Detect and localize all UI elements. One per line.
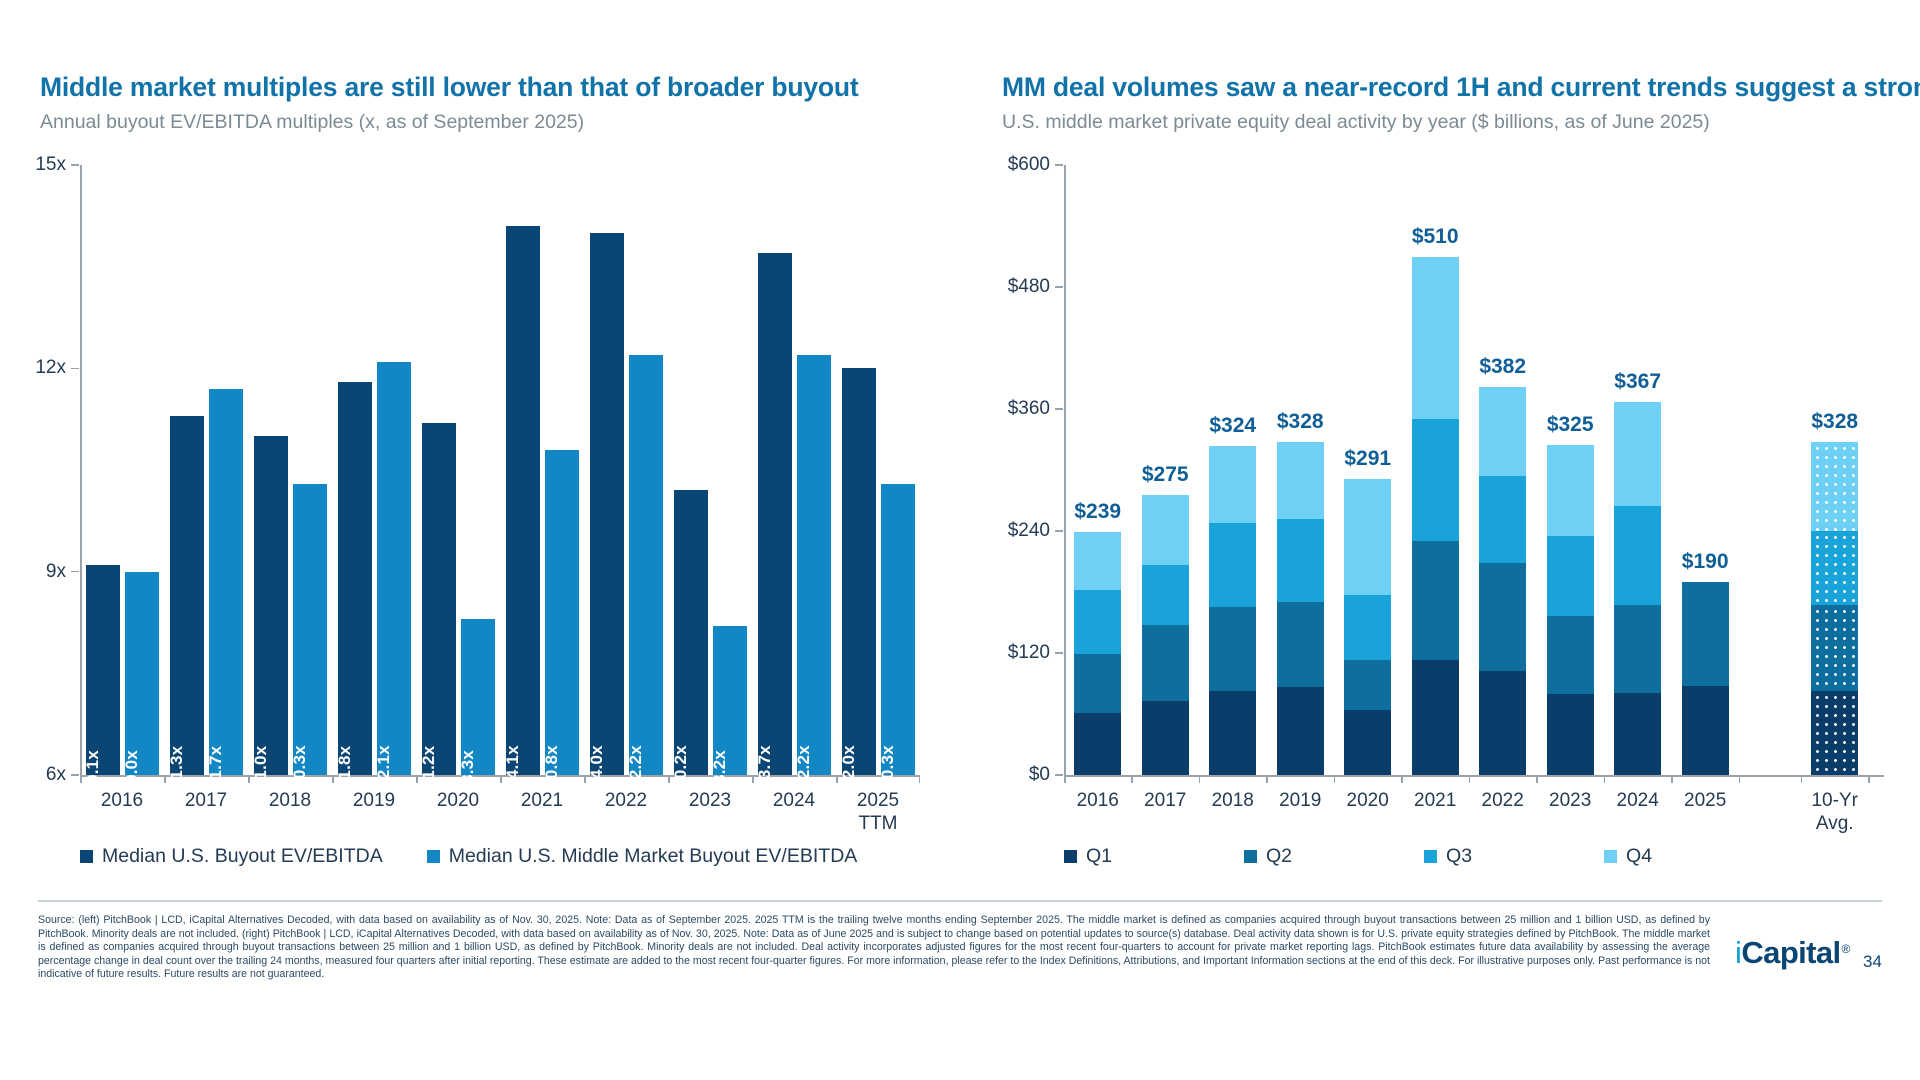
- right-chart-ytick-mark: [1055, 408, 1063, 410]
- right-chart-bar-segment: [1479, 671, 1526, 775]
- right-chart-xtick-mark: [1401, 775, 1403, 783]
- right-chart-xtick-mark: [1334, 775, 1336, 783]
- right-chart-stacked-bar: [1344, 479, 1391, 775]
- right-chart-bar-segment: [1682, 686, 1729, 775]
- left-chart-ytick-label: 9x: [14, 561, 66, 583]
- right-chart-xtick-mark: [1266, 775, 1268, 783]
- left-chart-bar: 10.3x: [881, 484, 915, 775]
- right-chart-average-bar: [1811, 442, 1858, 775]
- right-chart-xtick-mark: [1739, 775, 1741, 783]
- right-chart-bar-segment: [1209, 607, 1256, 690]
- left-chart-bar: 9.0x: [125, 572, 159, 775]
- right-chart-total-label: $324: [1209, 414, 1256, 438]
- right-chart-stacked-bar: [1209, 446, 1256, 775]
- right-chart-ytick-label: $480: [980, 276, 1050, 298]
- left-chart-bar-label: 12.2x: [626, 745, 646, 789]
- right-chart-bar-segment: [1412, 660, 1459, 775]
- left-chart-bar: 14.0x: [590, 233, 624, 775]
- left-chart-bar: 11.3x: [170, 416, 204, 775]
- left-chart-bar-label: 9.1x: [83, 750, 103, 784]
- right-chart-y-axis: [1064, 165, 1066, 775]
- left-chart-y-axis: [80, 165, 82, 775]
- right-legend-item-q3[interactable]: Q3: [1424, 845, 1472, 868]
- right-chart-bar-segment: [1811, 531, 1858, 605]
- right-chart-total-label: $325: [1547, 413, 1594, 437]
- right-chart-bar-segment: [1412, 419, 1459, 541]
- right-chart-bar-segment: [1209, 446, 1256, 523]
- left-chart-bar: 8.2x: [713, 626, 747, 775]
- right-chart-bar-segment: [1074, 713, 1121, 775]
- right-chart-bar-segment: [1209, 691, 1256, 775]
- left-chart-xtick-label: 2019: [332, 789, 416, 812]
- legend-swatch-icon: [427, 850, 440, 863]
- right-chart-bar-segment: [1479, 563, 1526, 672]
- right-chart-total-label: $190: [1682, 550, 1729, 574]
- right-chart-bar-segment: [1412, 257, 1459, 420]
- right-chart-xtick-label: 2025: [1671, 789, 1738, 812]
- right-chart-xtick-mark: [1671, 775, 1673, 783]
- left-chart-bar: 9.1x: [86, 565, 120, 775]
- left-legend-item-2[interactable]: Median U.S. Middle Market Buyout EV/EBIT…: [427, 845, 858, 868]
- right-chart-xtick-mark: [1469, 775, 1471, 783]
- left-chart-xtick-mark: [500, 775, 502, 783]
- left-chart-bar-label: 10.8x: [542, 745, 562, 789]
- left-chart-bar-label: 10.3x: [290, 745, 310, 789]
- right-chart-bar-segment: [1344, 660, 1391, 710]
- right-chart-bar-segment: [1547, 616, 1594, 693]
- right-chart-bar-segment: [1277, 519, 1324, 602]
- right-chart-xtick-mark: [1199, 775, 1201, 783]
- right-chart-total-label: $291: [1344, 447, 1391, 471]
- left-chart-xtick-mark: [248, 775, 250, 783]
- left-chart-xtick-label: 2021: [500, 789, 584, 812]
- right-chart-legend: Q1Q2Q3Q4: [1064, 845, 1652, 868]
- right-chart-bar-segment: [1614, 605, 1661, 692]
- left-panel-title: Middle market multiples are still lower …: [40, 72, 859, 103]
- right-chart-xtick-mark: [1868, 775, 1870, 783]
- left-chart-bar: 11.0x: [254, 436, 288, 775]
- left-chart-bar-label: 10.2x: [671, 745, 691, 789]
- left-chart-bar: 11.7x: [209, 389, 243, 775]
- left-chart-xtick-mark: [836, 775, 838, 783]
- right-chart-panel: MM deal volumes saw a near-record 1H and…: [968, 0, 1920, 910]
- right-chart-bar-segment: [1277, 442, 1324, 519]
- left-chart-ytick-mark: [71, 164, 79, 166]
- left-chart-xtick-mark: [752, 775, 754, 783]
- right-chart-bar-segment: [1479, 476, 1526, 562]
- right-chart-bar-segment: [1142, 701, 1189, 775]
- left-chart-bar: 14.1x: [506, 226, 540, 775]
- legend-swatch-icon: [80, 850, 93, 863]
- right-chart-stacked-bar: [1412, 257, 1459, 776]
- right-chart-xtick-mark: [1801, 775, 1803, 783]
- left-chart-ytick-label: 12x: [14, 357, 66, 379]
- right-chart-stacked-bar: [1682, 582, 1729, 775]
- left-chart-bar-label: 13.7x: [755, 745, 775, 789]
- left-chart-xtick-label: 2016: [80, 789, 164, 812]
- left-chart-bar-label: 11.2x: [419, 746, 439, 789]
- right-chart-ytick-label: $120: [980, 642, 1050, 664]
- right-chart-stacked-bar: [1614, 402, 1661, 775]
- right-chart-stacked-bar: [1074, 532, 1121, 775]
- right-chart-bar-segment: [1344, 710, 1391, 775]
- left-legend-item-1[interactable]: Median U.S. Buyout EV/EBITDA: [80, 845, 383, 868]
- right-chart-x-axis: [1064, 775, 1884, 777]
- left-chart-bar-label: 8.3x: [458, 750, 478, 784]
- left-chart-xtick-label: 2018: [248, 789, 332, 812]
- right-chart-xtick-label: 2024: [1604, 789, 1671, 812]
- left-chart-xtick-label: 2022: [584, 789, 668, 812]
- legend-label: Median U.S. Buyout EV/EBITDA: [102, 845, 383, 868]
- right-legend-item-q2[interactable]: Q2: [1244, 845, 1292, 868]
- left-chart-xtick-mark: [584, 775, 586, 783]
- left-chart-bar: 12.2x: [629, 355, 663, 775]
- right-chart-bar-segment: [1412, 541, 1459, 660]
- right-chart-plot: $0$120$240$360$480$600$2392016$2752017$3…: [1064, 165, 1884, 775]
- left-chart-xtick-label: 2024: [752, 789, 836, 812]
- left-chart-panel: Middle market multiples are still lower …: [0, 0, 968, 910]
- legend-swatch-icon: [1604, 850, 1617, 863]
- legend-swatch-icon: [1064, 850, 1077, 863]
- right-chart-bar-segment: [1547, 445, 1594, 537]
- right-legend-item-q4[interactable]: Q4: [1604, 845, 1652, 868]
- right-chart-ytick-label: $0: [980, 764, 1050, 786]
- right-chart-ytick-mark: [1055, 530, 1063, 532]
- left-chart-xtick-mark: [416, 775, 418, 783]
- right-chart-stacked-bar: [1547, 445, 1594, 775]
- right-chart-ytick-label: $600: [980, 154, 1050, 176]
- right-chart-xtick-label: 2018: [1199, 789, 1266, 812]
- left-chart-bar: 10.8x: [545, 450, 579, 775]
- left-chart-bar-label: 14.0x: [587, 745, 607, 789]
- left-chart-bar-label: 12.0x: [839, 745, 859, 789]
- left-chart-bar-label: 11.7x: [206, 746, 226, 789]
- left-chart-ytick-label: 6x: [14, 764, 66, 786]
- legend-label: Q4: [1626, 845, 1652, 868]
- left-chart-bar: 12.1x: [377, 362, 411, 775]
- left-chart-bar: 12.0x: [842, 368, 876, 775]
- right-chart-xtick-label: 2022: [1469, 789, 1536, 812]
- left-chart-xtick-label: 2025TTM: [836, 789, 920, 835]
- left-chart-plot: 6x9x12x15x9.1x9.0x201611.3x11.7x201711.0…: [80, 165, 920, 775]
- right-chart-ytick-label: $360: [980, 398, 1050, 420]
- right-chart-bar-segment: [1479, 387, 1526, 476]
- left-panel-subtitle: Annual buyout EV/EBITDA multiples (x, as…: [40, 111, 584, 134]
- left-chart-bar-label: 14.1x: [503, 745, 523, 789]
- right-panel-title: MM deal volumes saw a near-record 1H and…: [1002, 72, 1920, 103]
- left-chart-ytick-mark: [71, 774, 79, 776]
- right-chart-bar-segment: [1682, 582, 1729, 686]
- right-chart-bar-segment: [1547, 536, 1594, 616]
- left-chart-bar-label: 10.3x: [878, 745, 898, 789]
- left-chart-ytick-mark: [71, 368, 79, 370]
- right-chart-bar-segment: [1344, 595, 1391, 660]
- right-chart-ytick-label: $240: [980, 520, 1050, 542]
- right-chart-xtick-label: 2017: [1131, 789, 1198, 812]
- right-chart-bar-segment: [1614, 402, 1661, 506]
- slide: Middle market multiples are still lower …: [0, 0, 1920, 1080]
- right-chart-xtick-mark: [1536, 775, 1538, 783]
- right-chart-bar-segment: [1142, 495, 1189, 564]
- right-chart-ytick-mark: [1055, 774, 1063, 776]
- left-chart-bar-label: 11.8x: [335, 746, 355, 789]
- right-chart-xtick-label: 2021: [1401, 789, 1468, 812]
- right-chart-xtick-label: 2016: [1064, 789, 1131, 812]
- footer-divider: [38, 900, 1882, 902]
- right-chart-bar-segment: [1142, 625, 1189, 701]
- right-chart-ytick-mark: [1055, 164, 1063, 166]
- left-chart-ytick-label: 15x: [14, 154, 66, 176]
- left-chart-bar: 11.2x: [422, 423, 456, 775]
- left-chart-bar: 11.8x: [338, 382, 372, 775]
- left-chart-bar: 10.3x: [293, 484, 327, 775]
- left-chart-bar-label: 9.0x: [122, 750, 142, 784]
- left-chart-ytick-mark: [71, 571, 79, 573]
- left-chart-bar-label: 12.2x: [794, 745, 814, 789]
- legend-label: Q2: [1266, 845, 1292, 868]
- right-chart-xtick-mark: [1604, 775, 1606, 783]
- right-chart-xtick-label: 2023: [1536, 789, 1603, 812]
- right-chart-bar-segment: [1277, 602, 1324, 686]
- right-chart-total-label: $510: [1412, 225, 1459, 249]
- right-chart-xtick-label: 2019: [1266, 789, 1333, 812]
- right-chart-stacked-bar: [1142, 495, 1189, 775]
- legend-swatch-icon: [1244, 850, 1257, 863]
- right-legend-item-q1[interactable]: Q1: [1064, 845, 1112, 868]
- left-chart-xtick-mark: [668, 775, 670, 783]
- left-chart-bar: 12.2x: [797, 355, 831, 775]
- left-chart-xtick-mark: [919, 775, 921, 783]
- legend-swatch-icon: [1424, 850, 1437, 863]
- right-chart-xtick-mark: [1131, 775, 1133, 783]
- right-chart-stacked-bar: [1277, 442, 1324, 775]
- logo-capital: Capital: [1741, 935, 1840, 971]
- legend-label: Median U.S. Middle Market Buyout EV/EBIT…: [449, 845, 858, 868]
- logo-registered-mark: ®: [1842, 942, 1851, 956]
- right-chart-total-label: $367: [1614, 370, 1661, 394]
- source-footnote: Source: (left) PitchBook | LCD, iCapital…: [38, 914, 1710, 982]
- page-number: 34: [1863, 952, 1882, 972]
- legend-label: Q3: [1446, 845, 1472, 868]
- right-chart-bar-segment: [1074, 532, 1121, 590]
- right-chart-bar-segment: [1074, 590, 1121, 654]
- left-chart-bar: 8.3x: [461, 619, 495, 775]
- left-chart-bar-label: 11.0x: [251, 746, 271, 789]
- right-chart-xtick-mark: [1064, 775, 1066, 783]
- right-chart-total-label: $328: [1811, 410, 1858, 434]
- right-chart-bar-segment: [1277, 687, 1324, 775]
- left-chart-xtick-mark: [164, 775, 166, 783]
- right-chart-bar-segment: [1547, 694, 1594, 775]
- left-chart-bar: 13.7x: [758, 253, 792, 775]
- right-chart-xtick-label: 2020: [1334, 789, 1401, 812]
- left-chart-bar-label: 8.2x: [710, 750, 730, 784]
- right-chart-bar-segment: [1074, 654, 1121, 713]
- right-chart-bar-segment: [1344, 479, 1391, 595]
- right-chart-total-label: $275: [1142, 463, 1189, 487]
- left-chart-bar: 10.2x: [674, 490, 708, 775]
- left-chart-bar-label: 12.1x: [374, 745, 394, 789]
- right-chart-xtick-label: 10-YrAvg.: [1801, 789, 1868, 835]
- left-chart-xtick-label: 2020: [416, 789, 500, 812]
- right-chart-total-label: $382: [1479, 355, 1526, 379]
- left-chart-bar-label: 11.3x: [167, 746, 187, 789]
- right-chart-bar-segment: [1811, 691, 1858, 775]
- right-chart-total-label: $328: [1277, 410, 1324, 434]
- right-panel-subtitle: U.S. middle market private equity deal a…: [1002, 111, 1710, 134]
- left-chart-xtick-mark: [332, 775, 334, 783]
- right-chart-ytick-mark: [1055, 652, 1063, 654]
- icapital-logo: iCapital®: [1735, 935, 1850, 971]
- right-chart-stacked-bar: [1479, 387, 1526, 775]
- right-chart-bar-segment: [1811, 442, 1858, 531]
- legend-label: Q1: [1086, 845, 1112, 868]
- right-chart-bar-segment: [1614, 693, 1661, 775]
- left-chart-xtick-label: 2017: [164, 789, 248, 812]
- right-chart-bar-segment: [1209, 523, 1256, 607]
- right-chart-ytick-mark: [1055, 286, 1063, 288]
- right-chart-bar-segment: [1811, 605, 1858, 690]
- right-chart-bar-segment: [1142, 565, 1189, 625]
- left-chart-xtick-label: 2023: [668, 789, 752, 812]
- left-chart-xtick-mark: [80, 775, 82, 783]
- left-chart-legend: Median U.S. Buyout EV/EBITDAMedian U.S. …: [80, 845, 857, 868]
- right-chart-bar-segment: [1614, 506, 1661, 606]
- right-chart-total-label: $239: [1074, 500, 1121, 524]
